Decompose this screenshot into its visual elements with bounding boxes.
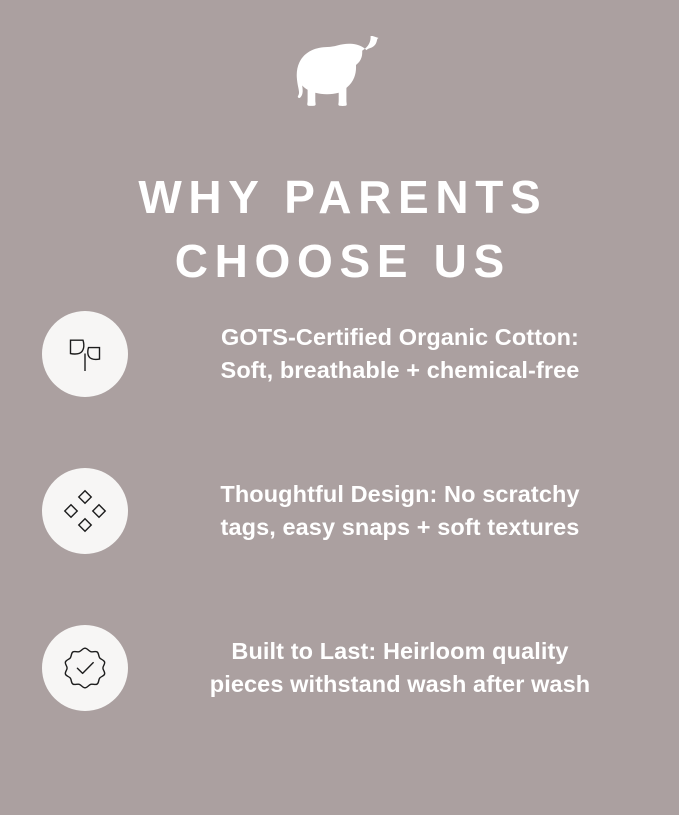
benefit-line-2: pieces withstand wash after wash [152,668,648,701]
benefit-line-2: tags, easy snaps + soft textures [152,511,648,544]
verified-badge-check-icon [61,644,109,692]
benefit-text-organic-cotton: GOTS-Certified Organic Cotton: Soft, bre… [152,321,648,387]
sprout-icon [62,331,108,377]
benefit-line-2: Soft, breathable + chemical-free [152,354,648,387]
benefit-item-built-to-last: Built to Last: Heirloom quality pieces w… [0,625,679,711]
benefit-item-organic-cotton: GOTS-Certified Organic Cotton: Soft, bre… [0,311,679,397]
benefit-line-1: GOTS-Certified Organic Cotton: [152,321,648,354]
page-title-line-2: CHOOSE US [0,229,679,293]
benefit-line-1: Thoughtful Design: No scratchy [152,478,648,511]
benefit-icon-badge [42,625,128,711]
benefit-line-1: Built to Last: Heirloom quality [152,635,648,668]
benefit-item-thoughtful-design: Thoughtful Design: No scratchy tags, eas… [0,468,679,554]
benefit-icon-badge [42,311,128,397]
brand-logo [0,36,679,108]
benefit-icon-badge [42,468,128,554]
page-title-line-1: WHY PARENTS [0,165,679,229]
benefit-text-built-to-last: Built to Last: Heirloom quality pieces w… [152,635,648,701]
benefits-list: GOTS-Certified Organic Cotton: Soft, bre… [0,311,679,711]
page-title: WHY PARENTS CHOOSE US [0,165,679,293]
benefit-text-thoughtful-design: Thoughtful Design: No scratchy tags, eas… [152,478,648,544]
elephant-logo-icon [292,36,388,108]
why-parents-choose-us-panel: WHY PARENTS CHOOSE US GOTS-Certifie [0,0,679,815]
four-diamonds-icon [62,488,108,534]
